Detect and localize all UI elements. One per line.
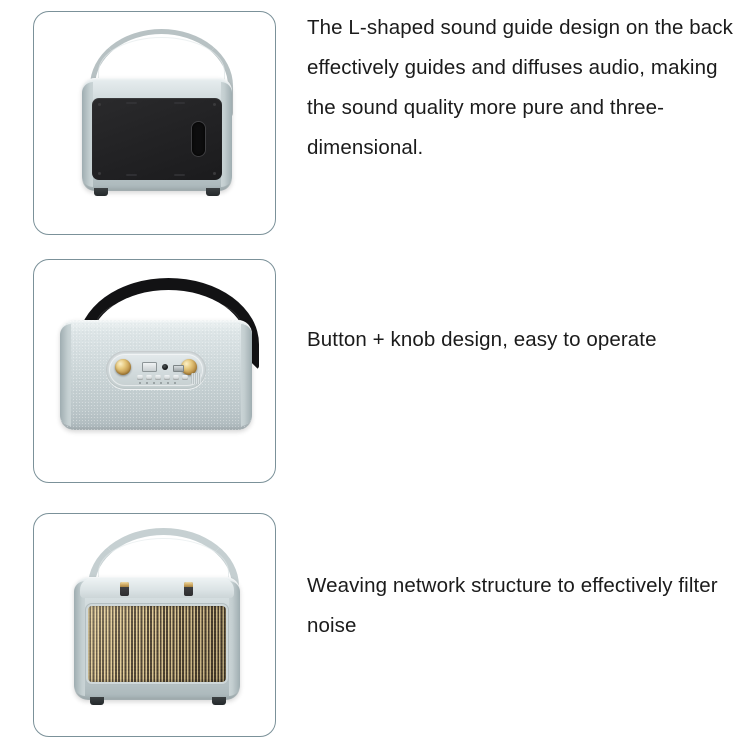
button-bluetooth[interactable] xyxy=(182,375,188,380)
rubber-foot-left xyxy=(94,188,108,196)
feature-caption-2: Button + knob design, easy to operate xyxy=(276,248,750,360)
speaker-front-view-illustration xyxy=(34,514,275,736)
top-deck xyxy=(80,578,234,598)
feature-row-1: The L-shaped sound guide design on the b… xyxy=(0,0,750,248)
rubber-foot-left xyxy=(90,697,104,705)
control-panel-recess[interactable] xyxy=(106,351,206,389)
product-image-panel-back xyxy=(33,11,276,235)
feature-caption-1: The L-shaped sound guide design on the b… xyxy=(276,0,750,168)
body-left-edge xyxy=(60,324,71,426)
micro-usb-port-icon xyxy=(173,365,184,372)
led-indicator-row xyxy=(139,382,176,384)
speaker-control-panel-illustration xyxy=(34,260,275,482)
woven-mesh-grille xyxy=(88,606,226,682)
button-mode[interactable] xyxy=(173,375,179,380)
handle-mount-left-icon xyxy=(120,582,129,596)
body-left-edge xyxy=(74,581,85,696)
product-image-panel-controls xyxy=(33,259,276,483)
speaker-back-view-illustration xyxy=(34,12,275,234)
feature-caption-3: Weaving network structure to effectively… xyxy=(276,504,750,646)
handle-mount-right-icon xyxy=(184,582,193,596)
feature-row-2: Button + knob design, easy to operate xyxy=(0,248,750,504)
button-row[interactable] xyxy=(137,375,188,380)
body-right-edge xyxy=(221,82,232,187)
button-power[interactable] xyxy=(137,375,143,380)
feature-row-3: Weaving network structure to effectively… xyxy=(0,504,750,750)
rubber-foot-right xyxy=(206,188,220,196)
button-next[interactable] xyxy=(164,375,170,380)
grille-highlight xyxy=(88,606,226,682)
volume-knob[interactable] xyxy=(115,359,131,375)
aux-jack-icon xyxy=(162,364,168,370)
usb-port-icon xyxy=(142,362,157,372)
button-prev[interactable] xyxy=(146,375,152,380)
body-right-edge xyxy=(229,581,240,696)
product-image-panel-front xyxy=(33,513,276,737)
rubber-foot-right xyxy=(212,697,226,705)
l-shaped-sound-guide-port xyxy=(192,122,205,156)
body-right-edge xyxy=(241,324,252,426)
button-play[interactable] xyxy=(155,375,161,380)
mic-grille-icon xyxy=(191,373,201,384)
